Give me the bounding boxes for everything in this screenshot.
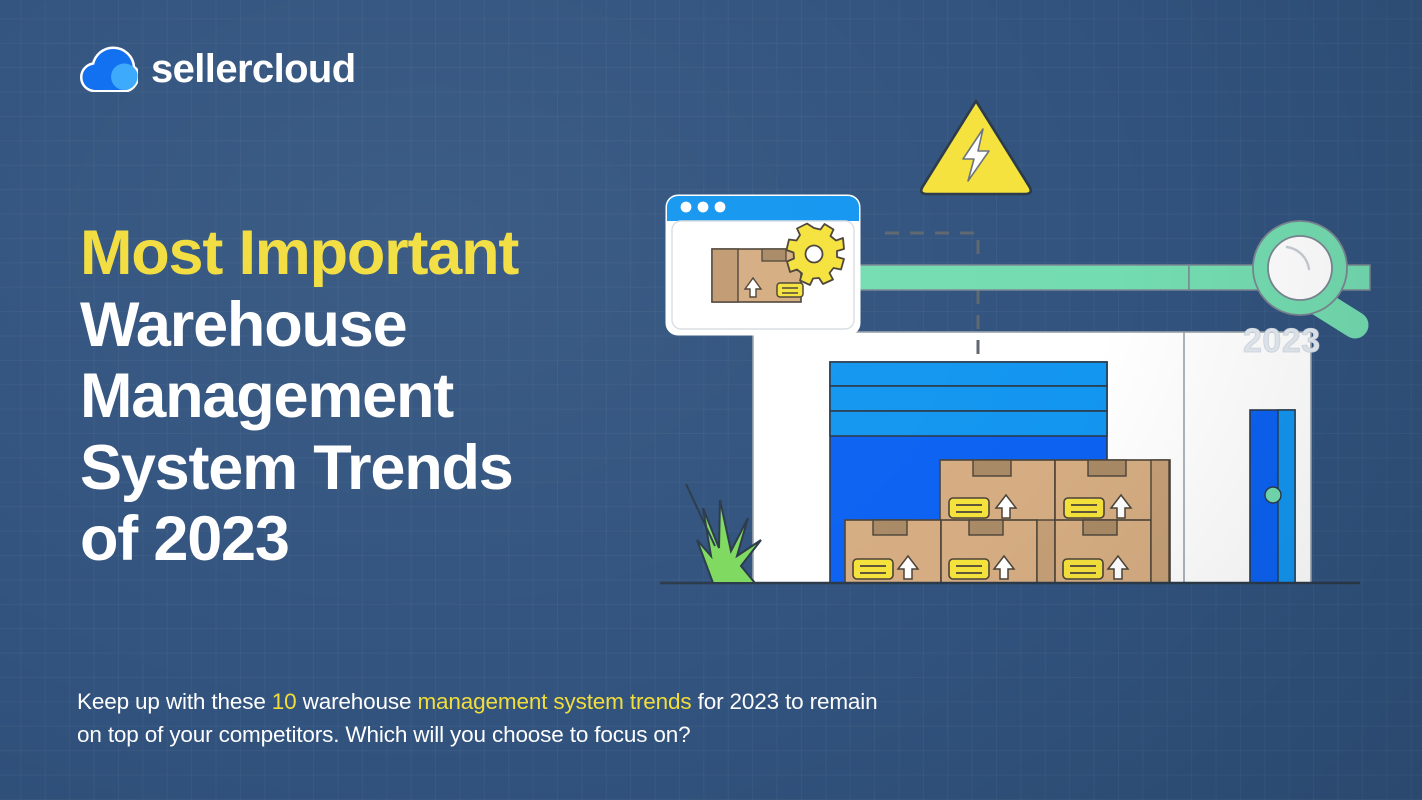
subtitle-part-3: for 2023 to remain xyxy=(692,689,878,714)
magnifying-glass-icon xyxy=(1253,221,1355,325)
box xyxy=(940,460,1055,583)
poster-canvas: 2023 xyxy=(0,0,1422,800)
warning-triangle-icon xyxy=(921,101,1031,194)
logo-wordmark: sellercloud xyxy=(151,49,356,89)
subtitle-highlight-count: 10 xyxy=(272,689,297,714)
window-box-icon xyxy=(712,249,803,302)
headline-line-3: Management xyxy=(80,361,700,433)
gear-icon xyxy=(787,224,845,286)
subtitle-line-2: on top of your competitors. Which will y… xyxy=(77,722,691,747)
headline-line-2: Warehouse xyxy=(80,290,700,362)
subtitle: Keep up with these 10 warehouse manageme… xyxy=(77,686,1107,751)
cloud-icon xyxy=(80,46,138,92)
box xyxy=(1055,520,1151,583)
shutter-door xyxy=(830,362,1107,583)
entry-door xyxy=(1250,410,1295,583)
dashed-guide-line xyxy=(885,233,978,460)
box xyxy=(1055,460,1170,583)
headline-line-5: of 2023 xyxy=(80,504,700,576)
window-dot xyxy=(698,202,709,213)
page-title: Most Important Warehouse Management Syst… xyxy=(80,218,700,576)
building-year-label: 2023 xyxy=(1243,322,1321,360)
sellercloud-logo[interactable]: sellercloud xyxy=(80,46,356,92)
subtitle-highlight-phrase: management system trends xyxy=(417,689,691,714)
subtitle-part-2: warehouse xyxy=(297,689,418,714)
roof-band xyxy=(849,265,1370,290)
lightning-bolt-icon xyxy=(963,129,989,181)
warehouse-building xyxy=(753,332,1311,583)
window-dot xyxy=(681,202,692,213)
box xyxy=(1151,460,1169,583)
box xyxy=(941,520,1037,583)
headline-line-4: System Trends xyxy=(80,433,700,505)
window-dot xyxy=(715,202,726,213)
subtitle-part-1: Keep up with these xyxy=(77,689,272,714)
door-knob xyxy=(1265,487,1281,503)
box-stack xyxy=(845,460,1170,583)
box xyxy=(1037,520,1055,583)
box xyxy=(845,520,941,583)
headline-line-1: Most Important xyxy=(80,218,700,290)
